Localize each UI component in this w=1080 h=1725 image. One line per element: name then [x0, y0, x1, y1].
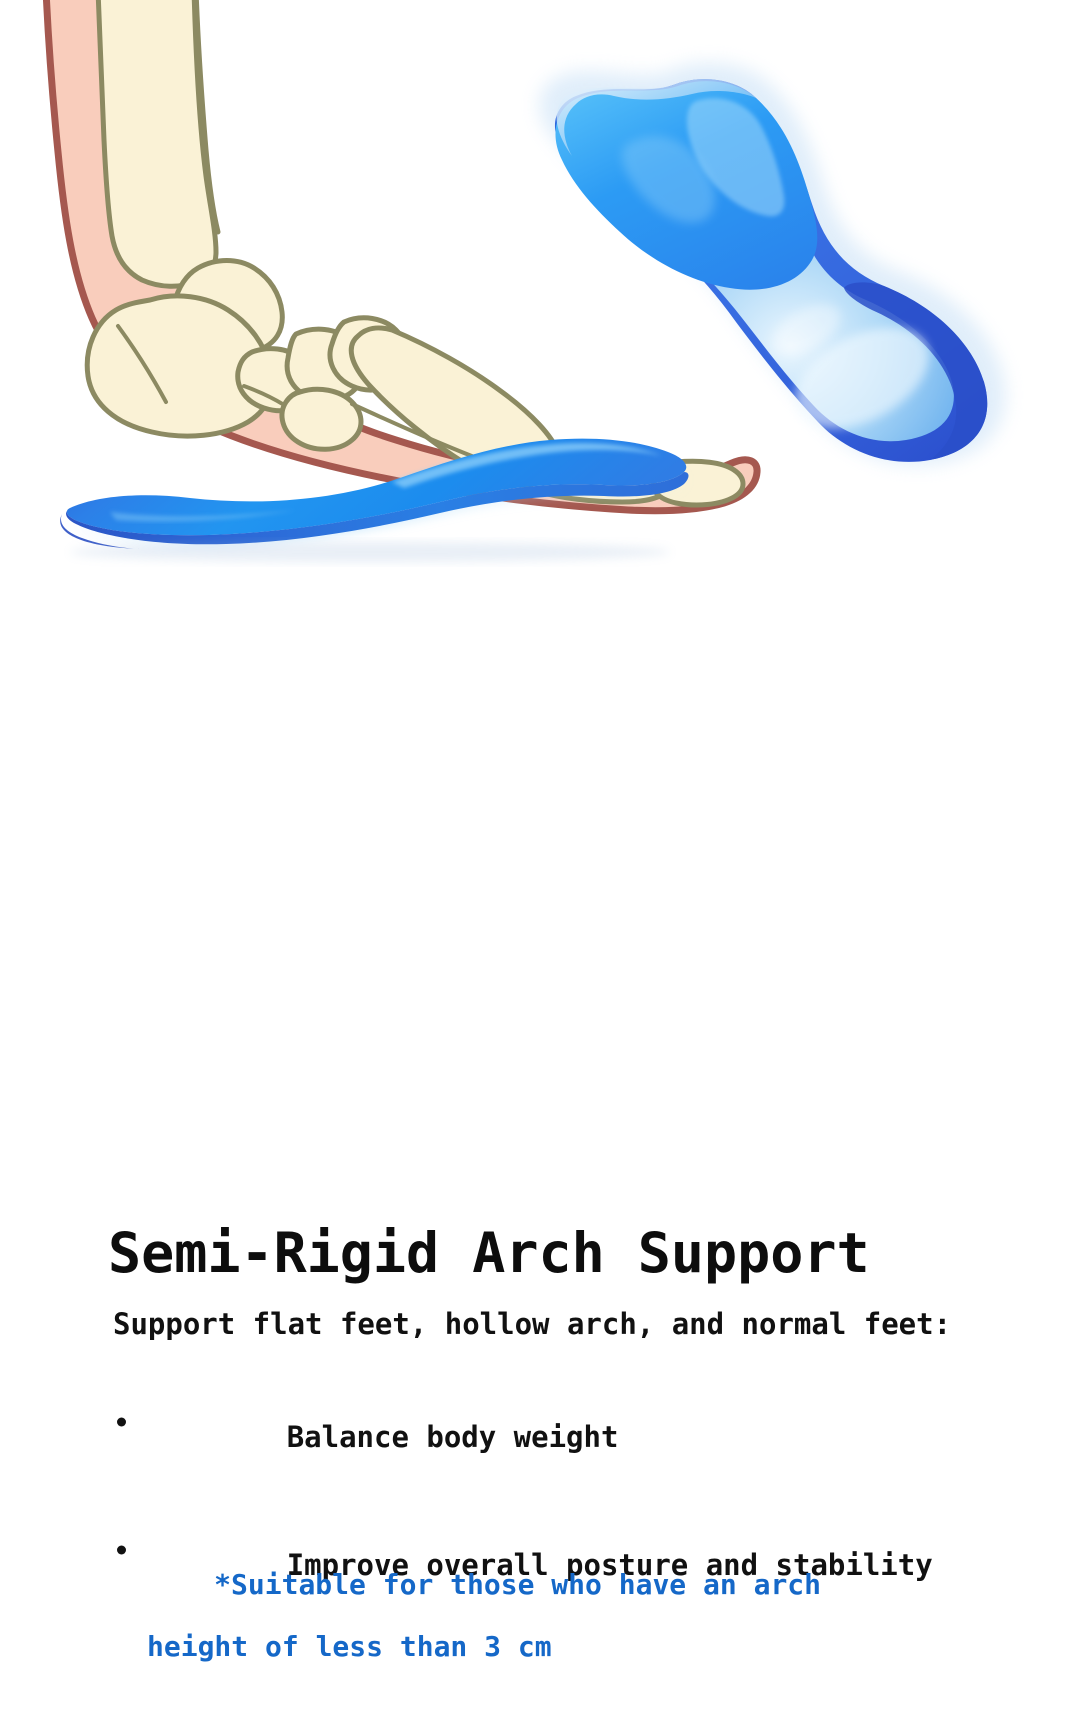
footnote: *Suitable for those who have an arch hei… [113, 1538, 821, 1724]
footnote-line-2: height of less than 3 cm [113, 1631, 821, 1662]
foot-anatomy-illustration [0, 0, 1080, 600]
footnote-line-1: *Suitable for those who have an arch [214, 1568, 821, 1601]
product-info-card: Semi-Rigid Arch Support Support flat fee… [0, 0, 1080, 1080]
page-title: Semi-Rigid Arch Support [108, 1222, 870, 1284]
text-content-block: Semi-Rigid Arch Support Support flat fee… [0, 600, 1080, 1080]
list-item: Balance body weight [113, 1360, 933, 1484]
list-item-label: Balance body weight [287, 1420, 619, 1454]
bullet-dot-icon [117, 1418, 126, 1427]
subtitle: Support flat feet, hollow arch, and norm… [113, 1306, 951, 1342]
insole-shadow [70, 542, 670, 562]
cuneiform-bone-3 [282, 389, 361, 449]
